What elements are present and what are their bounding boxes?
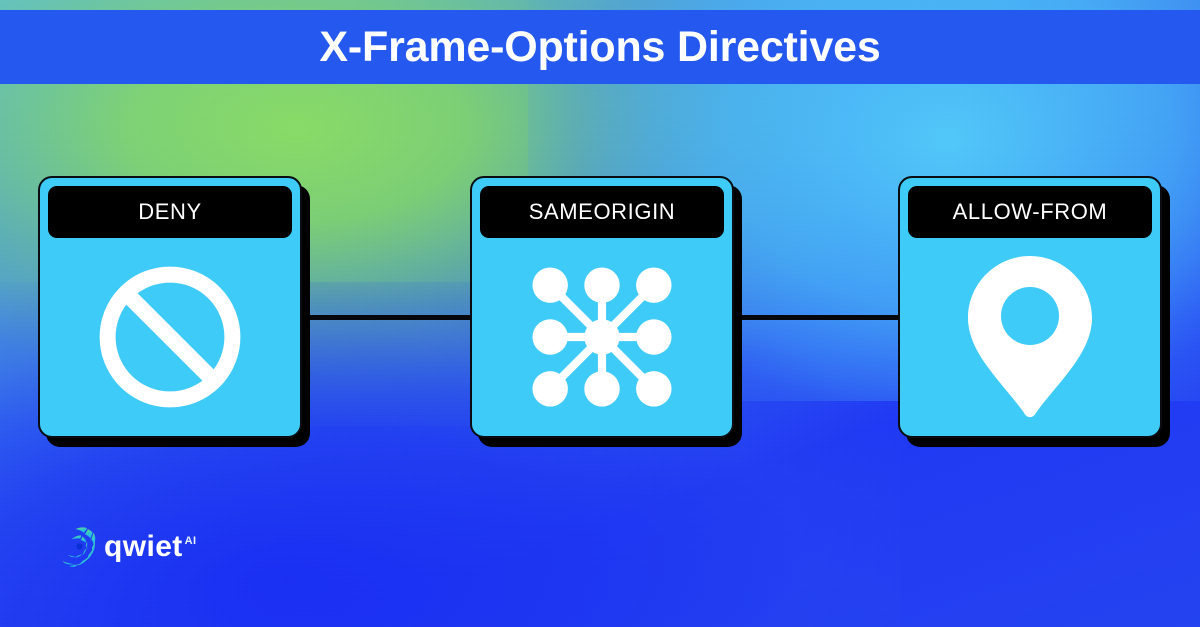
logo-wordmark: qwiet xyxy=(104,532,183,562)
logo-superscript: AI xyxy=(185,535,197,547)
map-pin-icon xyxy=(900,246,1160,428)
page-title: X-Frame-Options Directives xyxy=(319,26,880,69)
connector-line-deny-sameorigin xyxy=(298,315,478,320)
directive-card-sameorigin[interactable]: SAMEORIGIN xyxy=(470,176,734,438)
connector-line-sameorigin-allowfrom xyxy=(728,315,906,320)
title-banner: X-Frame-Options Directives xyxy=(0,10,1200,84)
no-entry-icon xyxy=(40,246,300,428)
network-hub-icon xyxy=(472,246,732,428)
card-header-deny: DENY xyxy=(48,186,292,238)
brand-logo[interactable]: qwiet AI xyxy=(62,524,196,570)
card-label: SAMEORIGIN xyxy=(529,199,676,225)
card-header-allow-from: ALLOW-FROM xyxy=(908,186,1152,238)
qwiet-spiral-icon xyxy=(62,526,102,568)
card-label: DENY xyxy=(138,199,202,225)
card-body: ALLOW-FROM xyxy=(898,176,1162,438)
card-body: SAMEORIGIN xyxy=(470,176,734,438)
directive-card-allow-from[interactable]: ALLOW-FROM xyxy=(898,176,1162,438)
infographic-canvas: X-Frame-Options Directives DENY SAMEORIG… xyxy=(0,0,1200,627)
card-body: DENY xyxy=(38,176,302,438)
card-label: ALLOW-FROM xyxy=(953,199,1108,225)
card-header-sameorigin: SAMEORIGIN xyxy=(480,186,724,238)
directive-card-deny[interactable]: DENY xyxy=(38,176,302,438)
